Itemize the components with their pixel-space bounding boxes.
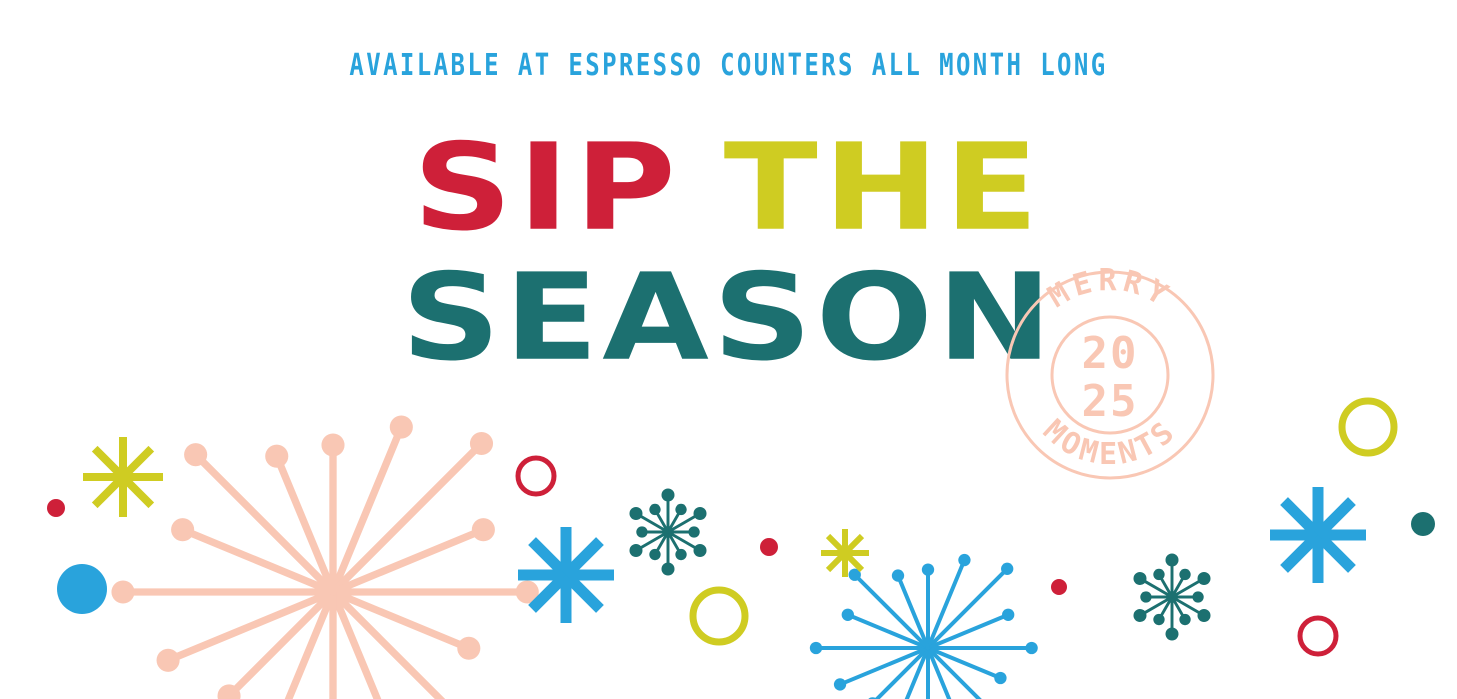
snowflake-teal-left [629,489,706,576]
merry-moments-stamp: MERRY MOMENTS 20 25 [985,250,1235,500]
ring-yellow-center [693,590,745,642]
ring-red-lower [1300,618,1336,654]
ring-yellow-right [1342,401,1394,453]
promo-banner: AVAILABLE AT ESPRESSO COUNTERS ALL MONTH… [0,0,1457,699]
stamp-year-first: 20 [1082,328,1139,379]
burst-blush-large [111,416,538,699]
star-blue-right [1270,487,1366,583]
dot-red-right [1051,579,1067,595]
dot-red-left [47,499,65,517]
ring-red-upper [518,458,554,494]
dot-blue-large [57,564,107,614]
star-yellow-small [821,529,869,577]
star-yellow-left [83,437,163,517]
stamp-top-text: MERRY [1042,263,1177,315]
decorative-layer [0,0,1457,699]
star-blue-center [518,527,614,623]
dot-red-center [760,538,778,556]
dot-teal-right [1411,512,1435,536]
stamp-year-second: 25 [1082,376,1139,427]
snowflake-teal-right [1133,554,1210,641]
